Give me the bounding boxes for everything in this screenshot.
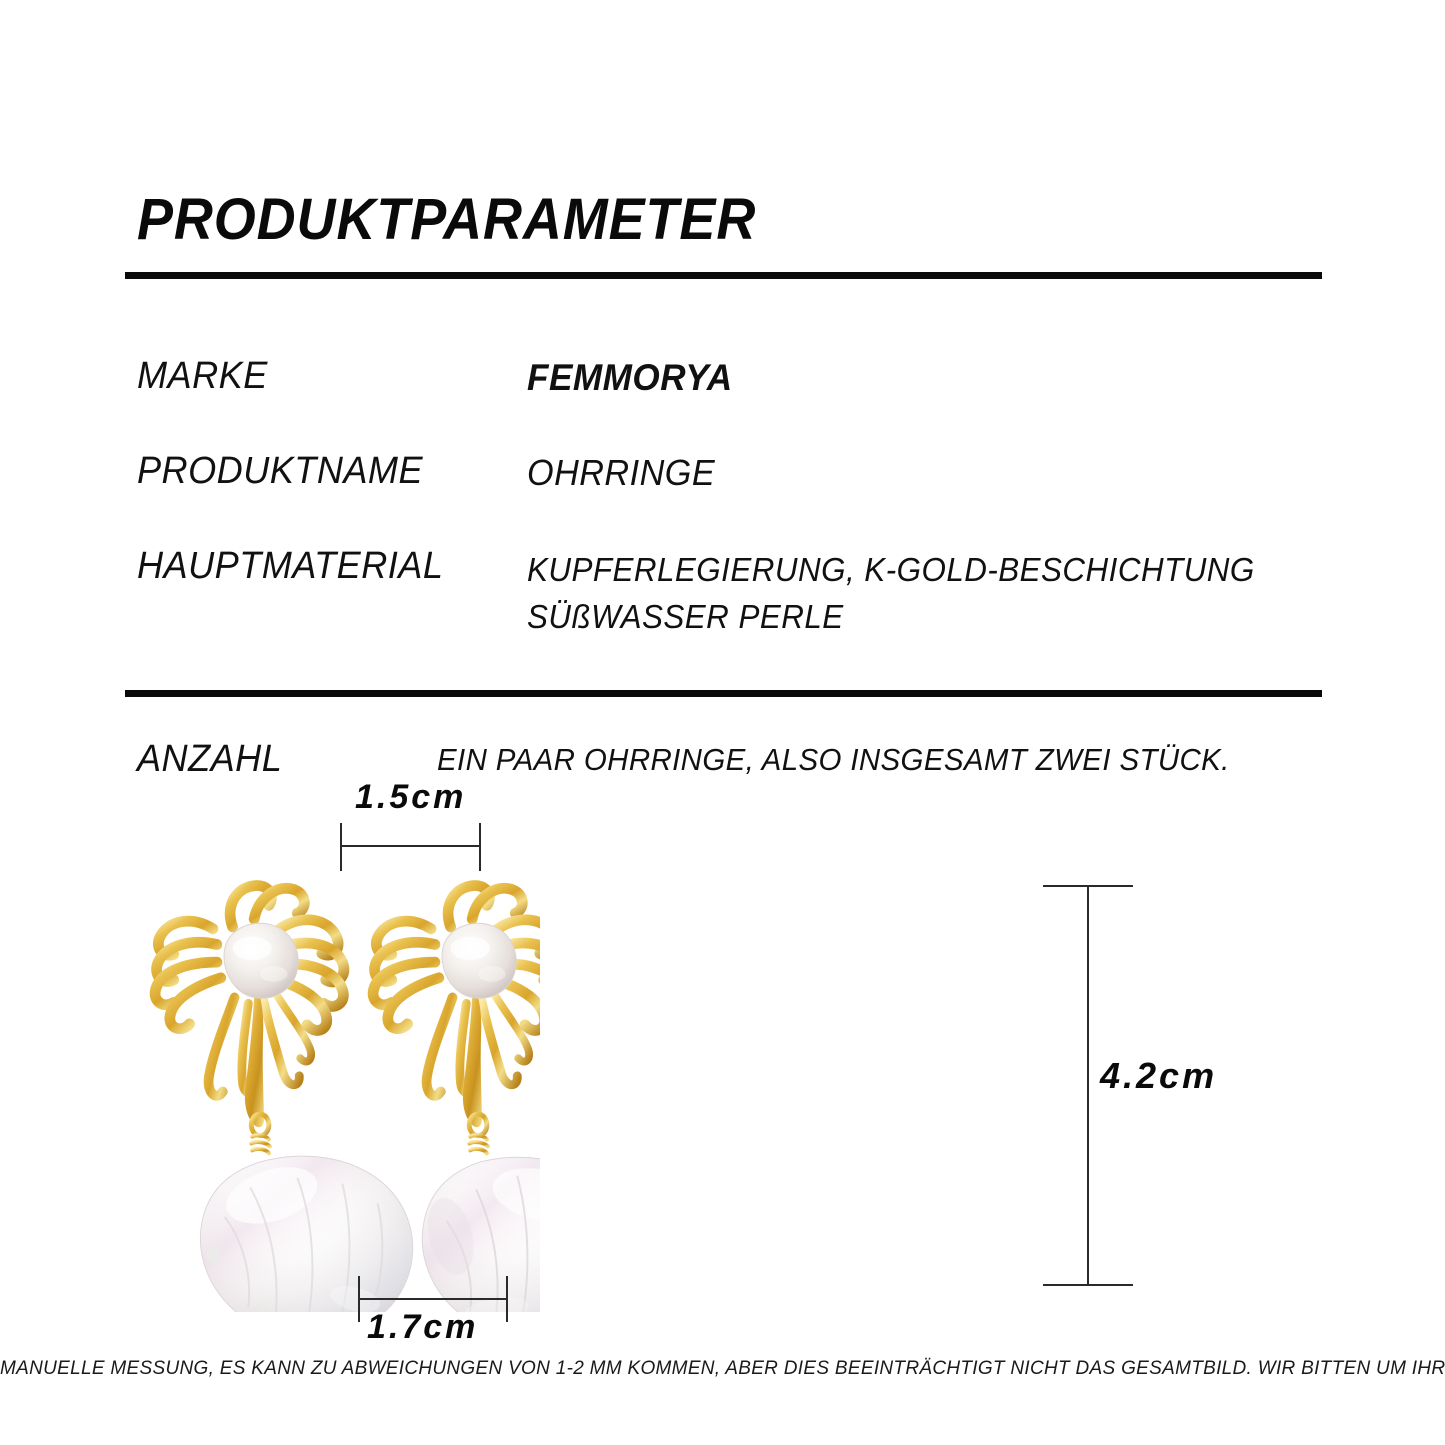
divider-top <box>125 272 1322 279</box>
divider-middle <box>125 690 1322 697</box>
spec-value-produktname: OHRRINGE <box>527 452 715 494</box>
spec-label-produktname: PRODUKTNAME <box>137 450 423 493</box>
dimension-bar-stud <box>340 845 481 847</box>
spec-label-marke: MARKE <box>137 355 268 398</box>
measurement-disclaimer: MANUELLE MESSUNG, ES KANN ZU ABWEICHUNGE… <box>0 1358 1445 1380</box>
dimension-bar-pearl <box>358 1298 508 1300</box>
spec-label-hauptmaterial: HAUPTMATERIAL <box>137 545 443 588</box>
hauptmaterial-line-1: KUPFERLEGIERUNG, K-GOLD-BESCHICHTUNG <box>527 551 1255 588</box>
dimension-stem-length <box>1087 886 1089 1285</box>
product-spec-sheet: PRODUKTPARAMETER MARKE FEMMORYA PRODUKTN… <box>0 0 1445 1445</box>
spec-value-marke: FEMMORYA <box>527 357 733 399</box>
dimension-label-stud-width: 1.5cm <box>355 778 466 817</box>
spec-value-anzahl: EIN PAAR OHRRINGE, ALSO INSGESAMT ZWEI S… <box>437 742 1230 778</box>
dimension-label-total-length: 4.2cm <box>1100 1055 1217 1097</box>
spec-value-hauptmaterial: KUPFERLEGIERUNG, K-GOLD-BESCHICHTUNG SÜß… <box>527 547 1316 641</box>
dimension-label-pearl-width: 1.7cm <box>367 1308 478 1347</box>
page-title: PRODUKTPARAMETER <box>137 186 756 253</box>
spec-label-anzahl: ANZAHL <box>137 738 282 781</box>
product-photo-earrings <box>120 862 540 1312</box>
hauptmaterial-line-2: SÜßWASSER PERLE <box>527 598 844 635</box>
dimension-cap-bottom-length <box>1043 1284 1133 1286</box>
